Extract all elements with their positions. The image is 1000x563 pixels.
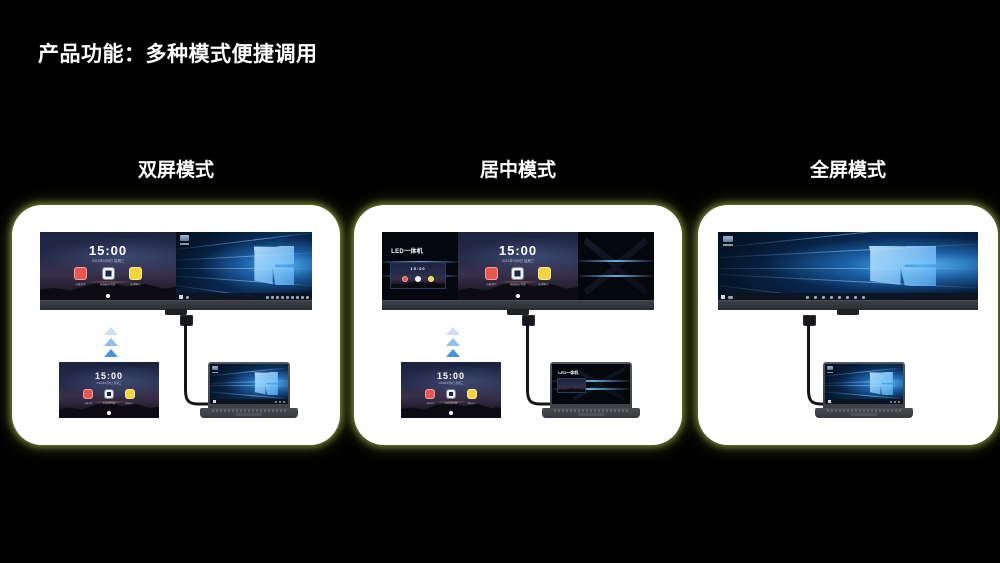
android-home-screen: 15:00 2021年9月8日 星期三 白板书写 无线投屏/传屏 xyxy=(401,362,501,418)
android-app-whiteboard[interactable]: 白板书写 xyxy=(83,389,93,405)
led-laptop-device: LED一体机 xyxy=(550,362,632,418)
android-app-label: 应用中心 xyxy=(126,401,134,405)
windows-laptop-device xyxy=(823,362,905,418)
page-title: 产品功能：多种模式便捷调用 xyxy=(38,38,318,68)
slide-root: 产品功能：多种模式便捷调用 双屏模式 居中模式 全屏模式 15:00 2021年… xyxy=(0,0,1000,563)
laptop-screen: LED一体机 xyxy=(552,364,630,404)
laptop-screen xyxy=(825,364,903,404)
card-dual-screen: 15:00 2021年9月8日 星期三 白板书写 无线投屏/传屏 xyxy=(12,205,340,445)
arrow-up-icon xyxy=(104,327,118,335)
windows-taskbar[interactable] xyxy=(210,399,288,404)
windows-laptop-device xyxy=(208,362,290,418)
android-app-label: 应用中心 xyxy=(468,401,476,405)
android-mountain xyxy=(558,388,585,393)
card-fullscreen-mode xyxy=(698,205,998,445)
appcenter-icon xyxy=(125,389,135,399)
android-app-label: 白板书写 xyxy=(426,401,434,405)
android-tablet-device: 15:00 2021年9月8日 星期三 白板书写 无线投屏/传屏 xyxy=(59,362,159,418)
android-date: 2021年9月8日 星期三 xyxy=(59,383,159,386)
arrow-up-icon xyxy=(446,349,460,357)
whiteboard-icon xyxy=(425,389,435,399)
this-pc-icon[interactable] xyxy=(827,366,833,373)
led-mini-preview xyxy=(557,378,586,394)
settings-icon[interactable] xyxy=(283,401,285,403)
tablet-screen: 15:00 2021年9月8日 星期三 白板书写 无线投屏/传屏 xyxy=(401,362,501,418)
card-center-mode: LED一体机 15:00 xyxy=(354,205,682,445)
whiteboard-icon xyxy=(83,389,93,399)
windows-desktop-screen xyxy=(825,364,903,404)
android-clock: 15:00 xyxy=(401,372,501,381)
signal-arrows xyxy=(446,327,460,357)
laptop-base xyxy=(815,408,913,418)
laptop-lid xyxy=(208,362,290,408)
laptop-trackpad xyxy=(578,413,604,416)
explorer-icon[interactable] xyxy=(275,401,277,403)
appcenter-icon xyxy=(467,389,477,399)
laptop-trackpad xyxy=(236,413,262,416)
start-icon[interactable] xyxy=(213,400,216,403)
edge-icon[interactable] xyxy=(279,401,281,403)
cast-icon xyxy=(104,389,114,399)
windows-taskbar[interactable] xyxy=(825,399,903,404)
led-brand-text: LED一体机 xyxy=(558,370,578,376)
laptop-keyboard xyxy=(827,409,902,412)
settings-icon[interactable] xyxy=(898,401,900,403)
laptop-screen xyxy=(210,364,288,404)
laptop-base xyxy=(542,408,640,418)
taskbar-tray[interactable] xyxy=(275,401,285,403)
android-app-dock: 白板书写 无线投屏/传屏 应用中心 xyxy=(59,389,159,405)
android-tablet-device: 15:00 2021年9月8日 星期三 白板书写 无线投屏/传屏 xyxy=(401,362,501,418)
android-home-screen xyxy=(558,379,585,393)
android-app-label: 白板书写 xyxy=(84,401,92,405)
explorer-icon[interactable] xyxy=(890,401,892,403)
arrow-up-icon xyxy=(104,338,118,346)
home-dot-icon[interactable] xyxy=(107,411,111,415)
arrow-up-icon xyxy=(104,349,118,357)
android-app-appcenter[interactable]: 应用中心 xyxy=(467,389,477,405)
android-app-dock: 白板书写 无线投屏/传屏 应用中心 xyxy=(401,389,501,405)
tablet-screen: 15:00 2021年9月8日 星期三 白板书写 无线投屏/传屏 xyxy=(59,362,159,418)
wallpaper-seam xyxy=(825,385,903,386)
x-logo-panel: LED一体机 xyxy=(552,364,630,404)
heading-center-mode: 居中模式 xyxy=(354,155,682,182)
wallpaper-seam xyxy=(210,385,288,386)
android-home-screen: 15:00 2021年9月8日 星期三 白板书写 无线投屏/传屏 xyxy=(59,362,159,418)
signal-arrows xyxy=(104,327,118,357)
arrow-up-icon xyxy=(446,327,460,335)
edge-icon[interactable] xyxy=(894,401,896,403)
cast-icon xyxy=(446,389,456,399)
heading-fullscreen-mode: 全屏模式 xyxy=(698,155,998,182)
windows-desktop-screen xyxy=(210,364,288,404)
android-app-cast[interactable]: 无线投屏/传屏 xyxy=(444,389,458,405)
android-app-label: 无线投屏/传屏 xyxy=(445,401,457,405)
android-date: 2021年9月8日 星期三 xyxy=(401,383,501,386)
home-dot-icon[interactable] xyxy=(449,411,453,415)
laptop-base xyxy=(200,408,298,418)
start-icon[interactable] xyxy=(828,400,831,403)
android-app-cast[interactable]: 无线投屏/传屏 xyxy=(102,389,116,405)
laptop-keyboard xyxy=(554,409,629,412)
this-pc-icon[interactable] xyxy=(212,366,218,373)
laptop-trackpad xyxy=(851,413,877,416)
laptop-lid: LED一体机 xyxy=(550,362,632,408)
android-app-label: 无线投屏/传屏 xyxy=(103,401,115,405)
laptop-keyboard xyxy=(212,409,287,412)
arrow-up-icon xyxy=(446,338,460,346)
android-app-whiteboard[interactable]: 白板书写 xyxy=(425,389,435,405)
heading-dual-screen: 双屏模式 xyxy=(12,155,340,182)
taskbar-tray[interactable] xyxy=(890,401,900,403)
android-clock: 15:00 xyxy=(59,372,159,381)
column-headings: 双屏模式 居中模式 全屏模式 xyxy=(0,155,1000,183)
android-app-appcenter[interactable]: 应用中心 xyxy=(125,389,135,405)
laptop-lid xyxy=(823,362,905,408)
